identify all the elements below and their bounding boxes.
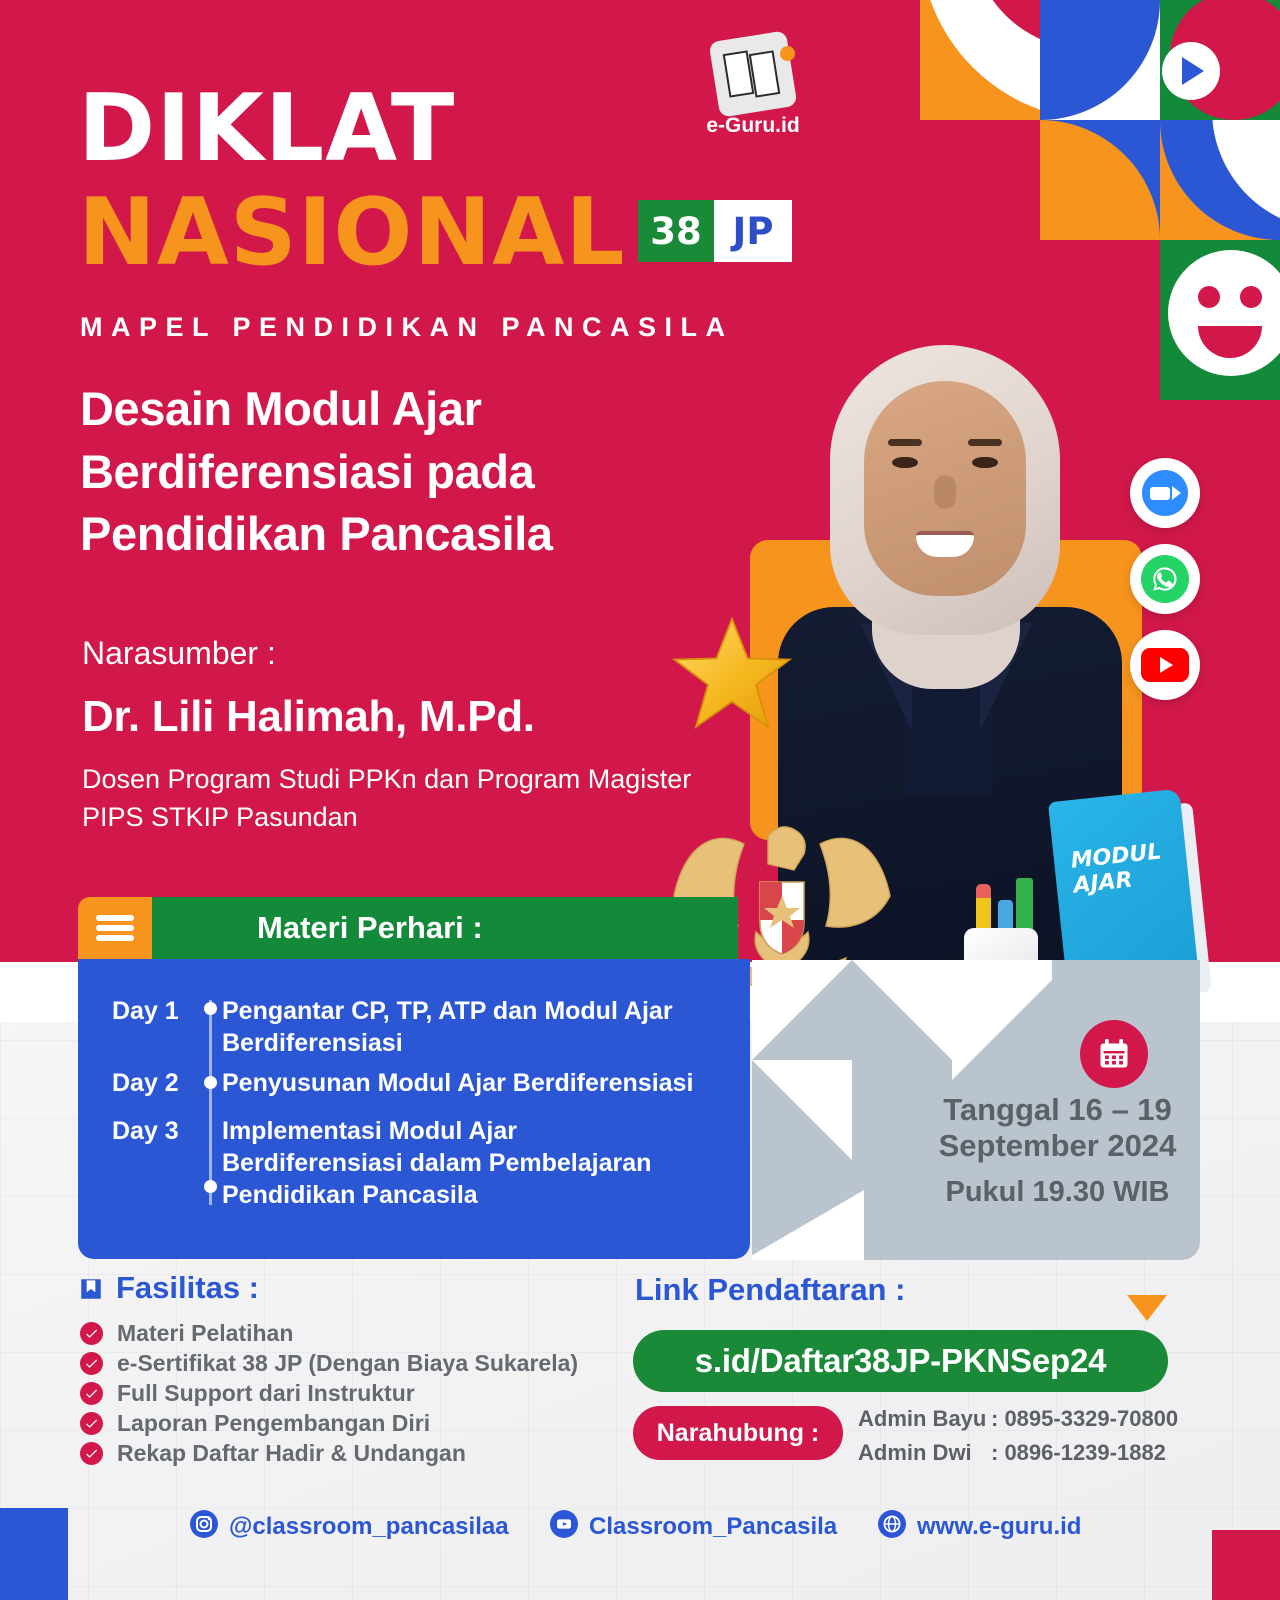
instagram-icon bbox=[190, 1510, 218, 1543]
eye-right bbox=[972, 457, 998, 468]
materi-header: Materi Perhari : bbox=[78, 897, 738, 959]
whatsapp-glyph bbox=[1141, 555, 1189, 603]
eye-left bbox=[892, 457, 918, 468]
pencil-eraser bbox=[976, 884, 991, 898]
day-label: Day 3 bbox=[112, 1115, 222, 1146]
globe-icon bbox=[878, 1510, 906, 1543]
page-title: Desain Modul Ajar Berdiferensiasi pada P… bbox=[80, 378, 760, 566]
deco-triangle bbox=[752, 960, 852, 1060]
poster-root: e-Guru.id DIKLAT NASIONAL 38 JP MAPEL PE… bbox=[0, 0, 1280, 1600]
day-label: Day 1 bbox=[112, 995, 222, 1026]
eyebrow-right bbox=[968, 439, 1002, 446]
footer-website-label: www.e-guru.id bbox=[917, 1513, 1081, 1541]
face bbox=[864, 381, 1026, 596]
brand-logo-text: e-Guru.id bbox=[688, 114, 818, 138]
logo-dot bbox=[780, 46, 795, 61]
eyebrow-left bbox=[888, 439, 922, 446]
day-text: Pengantar CP, TP, ATP dan Modul Ajar Ber… bbox=[222, 995, 692, 1059]
check-icon bbox=[80, 1412, 103, 1435]
day-row: Day 3 Implementasi Modul Ajar Berdiferen… bbox=[112, 1115, 732, 1211]
contact-name: Admin Dwi bbox=[858, 1440, 991, 1466]
nose bbox=[934, 475, 956, 509]
fasilitas-title: Fasilitas : bbox=[116, 1270, 259, 1306]
zoom-glyph bbox=[1142, 470, 1188, 516]
fasilitas-item: Full Support dari Instruktur bbox=[117, 1380, 415, 1407]
registration-link-button[interactable]: s.id/Daftar38JP-PKNSep24 bbox=[633, 1330, 1168, 1392]
jp-badge: 38 JP bbox=[638, 200, 792, 262]
footer-youtube[interactable]: Classroom_Pancasila bbox=[550, 1510, 837, 1543]
zoom-icon[interactable] bbox=[1130, 458, 1200, 528]
fasilitas-item: Rekap Daftar Hadir & Undangan bbox=[117, 1440, 466, 1467]
youtube-icon bbox=[550, 1510, 578, 1543]
schedule-date-line1: Tanggal 16 – 19 bbox=[943, 1092, 1172, 1127]
schedule-time: Pukul 19.30 WIB bbox=[925, 1176, 1190, 1209]
head bbox=[830, 345, 1060, 645]
check-icon bbox=[80, 1442, 103, 1465]
deco-triangle bbox=[752, 1190, 864, 1260]
contact-row: Admin Bayu : 0895-3329-70800 bbox=[858, 1406, 1178, 1432]
materi-title-bar: Materi Perhari : bbox=[152, 897, 738, 959]
title-diklat: DIKLAT bbox=[78, 82, 455, 175]
speaker-label: Narasumber : bbox=[82, 635, 276, 672]
corner-accent-blue bbox=[0, 1508, 68, 1600]
star-prop-icon bbox=[672, 616, 792, 732]
schedule-date-line2: September 2024 bbox=[939, 1128, 1177, 1163]
footer-youtube-label: Classroom_Pancasila bbox=[589, 1513, 837, 1541]
footer-instagram-label: @classroom_pancasilaa bbox=[229, 1513, 509, 1541]
day-row: Day 1 Pengantar CP, TP, ATP dan Modul Aj… bbox=[112, 995, 712, 1059]
youtube-icon[interactable] bbox=[1130, 630, 1200, 700]
day-text: Implementasi Modul Ajar Berdiferensiasi … bbox=[222, 1115, 700, 1211]
check-icon bbox=[80, 1352, 103, 1375]
whatsapp-icon[interactable] bbox=[1130, 544, 1200, 614]
mouth bbox=[916, 531, 974, 557]
corner-accent-red bbox=[1212, 1530, 1280, 1600]
contact-label-badge: Narahubung : bbox=[633, 1406, 843, 1460]
contact-name: Admin Bayu bbox=[858, 1406, 991, 1432]
fasilitas-item: Laporan Pengembangan Diri bbox=[117, 1410, 430, 1437]
fasilitas-item: Materi Pelatihan bbox=[117, 1320, 293, 1347]
contact-phone: : 0895-3329-70800 bbox=[991, 1406, 1178, 1432]
deco-triangle bbox=[752, 1060, 852, 1160]
materi-title: Materi Perhari : bbox=[152, 910, 483, 946]
calendar-icon bbox=[1080, 1020, 1148, 1088]
day-row: Day 2 Penyusunan Modul Ajar Berdiferensi… bbox=[112, 1067, 712, 1099]
contact-row: Admin Dwi : 0896-1239-1882 bbox=[858, 1440, 1166, 1466]
speaker-affiliation: Dosen Program Studi PPKn dan Program Mag… bbox=[82, 760, 722, 837]
subject-label: MAPEL PENDIDIKAN PANCASILA bbox=[80, 312, 734, 343]
triangle-down-icon bbox=[1127, 1295, 1167, 1321]
registration-title: Link Pendaftaran : bbox=[635, 1272, 905, 1308]
deco-triangle bbox=[852, 960, 952, 1060]
jp-badge-unit: JP bbox=[714, 200, 792, 262]
title-nasional: NASIONAL bbox=[78, 186, 626, 279]
play-triangle-icon bbox=[1182, 57, 1204, 85]
brand-logo: e-Guru.id bbox=[688, 36, 818, 141]
jp-badge-number: 38 bbox=[638, 200, 714, 262]
footer-instagram[interactable]: @classroom_pancasilaa bbox=[190, 1510, 509, 1543]
geometric-pattern bbox=[920, 0, 1280, 400]
check-icon bbox=[80, 1322, 103, 1345]
schedule-date: Tanggal 16 – 19 September 2024 bbox=[925, 1092, 1190, 1164]
check-icon bbox=[80, 1382, 103, 1405]
bookmark-icon bbox=[78, 1276, 104, 1307]
speaker-name: Dr. Lili Halimah, M.Pd. bbox=[82, 692, 535, 742]
contact-phone: : 0896-1239-1882 bbox=[991, 1440, 1166, 1466]
fasilitas-item: e-Sertifikat 38 JP (Dengan Biaya Sukarel… bbox=[117, 1350, 578, 1377]
footer-website[interactable]: www.e-guru.id bbox=[878, 1510, 1081, 1543]
day-label: Day 2 bbox=[112, 1067, 222, 1098]
hamburger-menu-icon bbox=[78, 897, 152, 959]
youtube-glyph bbox=[1141, 648, 1189, 682]
day-text: Penyusunan Modul Ajar Berdiferensiasi bbox=[222, 1067, 702, 1099]
